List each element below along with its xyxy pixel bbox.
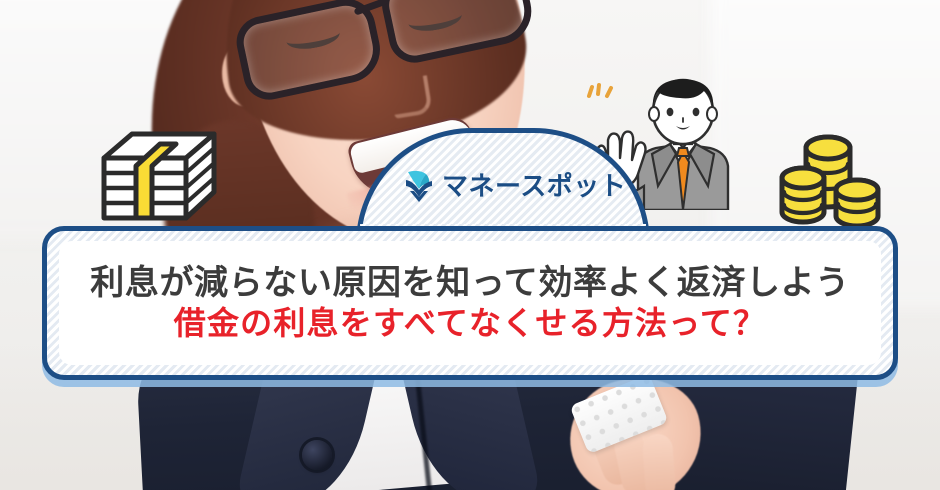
banner-subheadline: 借金の利息をすべてなくせる方法って？ [174,305,766,343]
banner-card-inner: 利息が減らない原因を知って効率よく返済しよう 借金の利息をすべてなくせる方法って… [59,241,881,365]
banner-headline: 利息が減らない原因を知って効率よく返済しよう [90,263,850,303]
woman-finger [642,433,677,490]
site-logo[interactable]: マネースポット [404,164,614,208]
blazer-button [302,440,332,470]
banner-card: マネースポット 利息が減らない原因を知って効率よく返済しよう 借金の利息をすべて… [42,128,898,380]
money-spot-leaf-logo-icon [404,169,434,203]
sparkle-icon [589,85,611,96]
banner-root: マネースポット 利息が減らない原因を知って効率よく返済しよう 借金の利息をすべて… [0,0,940,490]
site-logo-text: マネースポット [442,173,626,199]
banner-card-outer: 利息が減らない原因を知って効率よく返済しよう 借金の利息をすべてなくせる方法って… [42,226,898,380]
